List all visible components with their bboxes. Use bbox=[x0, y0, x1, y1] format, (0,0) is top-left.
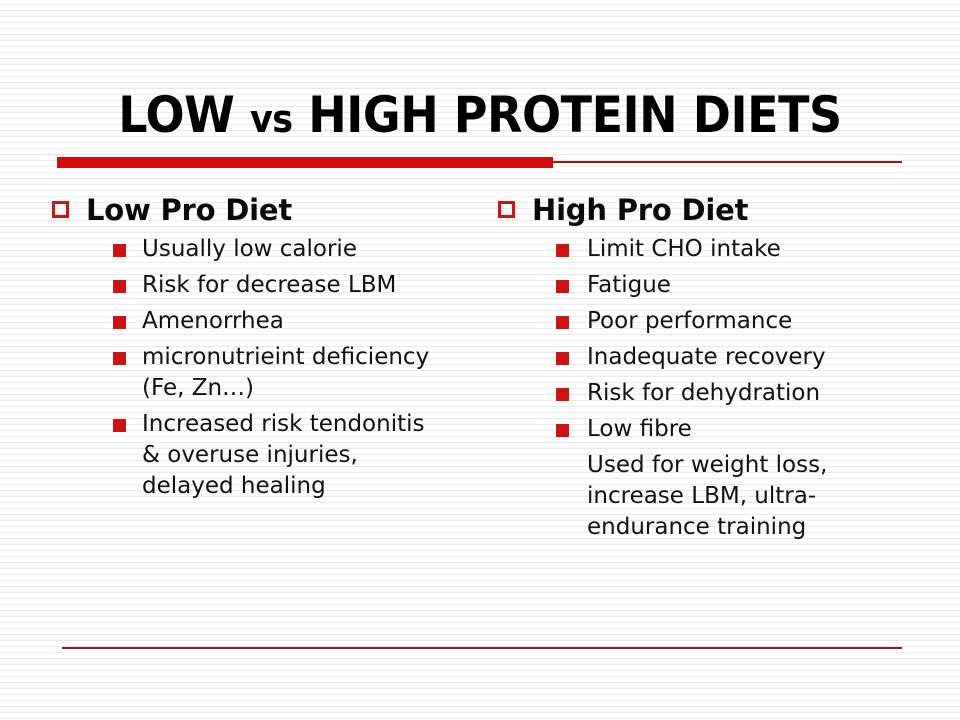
list-item: Fatigue bbox=[556, 270, 928, 301]
list-item: Inadequate recovery bbox=[556, 342, 928, 373]
list-item: Poor performance bbox=[556, 306, 928, 337]
content-column-high-pro-diet: High Pro Diet Limit CHO intake Fatigue P… bbox=[498, 192, 928, 548]
filled-square-bullet-icon bbox=[113, 352, 126, 365]
heading-label: Low Pro Diet bbox=[86, 192, 292, 228]
list-item-label: micronutrieint deficiency (Fe, Zn…) bbox=[142, 342, 442, 404]
heading-low-pro-diet: Low Pro Diet bbox=[52, 192, 472, 228]
filled-square-bullet-icon bbox=[556, 316, 569, 329]
slide-canvas: LOW vs HIGH PROTEIN DIETS Low Pro Diet U… bbox=[0, 0, 960, 720]
filled-square-bullet-icon bbox=[556, 424, 569, 437]
bullet-list-low-pro-diet: Usually low calorie Risk for decrease LB… bbox=[113, 234, 472, 502]
list-item-label: Risk for decrease LBM bbox=[142, 270, 442, 301]
title-part-low: LOW bbox=[118, 86, 250, 144]
list-item-label: Used for weight loss, increase LBM, ultr… bbox=[587, 450, 912, 543]
list-item-label: Increased risk tendonitis & overuse inju… bbox=[142, 409, 442, 502]
list-item: Increased risk tendonitis & overuse inju… bbox=[113, 409, 472, 502]
list-item: Risk for dehydration bbox=[556, 378, 928, 409]
filled-square-bullet-icon bbox=[113, 419, 126, 432]
title-part-vs: vs bbox=[250, 97, 293, 141]
hollow-square-bullet-icon bbox=[498, 201, 515, 218]
blank-bullet-spacer-icon bbox=[556, 460, 569, 473]
filled-square-bullet-icon bbox=[113, 244, 126, 257]
list-item: Usually low calorie bbox=[113, 234, 472, 265]
footer-divider-rule bbox=[62, 647, 902, 649]
title-underline-thick-bar bbox=[57, 157, 553, 168]
list-item-label: Inadequate recovery bbox=[587, 342, 917, 373]
hollow-square-bullet-icon bbox=[52, 201, 69, 218]
heading-high-pro-diet: High Pro Diet bbox=[498, 192, 928, 228]
list-item-no-bullet: Used for weight loss, increase LBM, ultr… bbox=[556, 450, 928, 543]
list-item-label: Low fibre bbox=[587, 414, 917, 445]
content-column-low-pro-diet: Low Pro Diet Usually low calorie Risk fo… bbox=[52, 192, 472, 507]
filled-square-bullet-icon bbox=[556, 388, 569, 401]
list-item-label: Fatigue bbox=[587, 270, 917, 301]
heading-label: High Pro Diet bbox=[532, 192, 748, 228]
list-item: Low fibre bbox=[556, 414, 928, 445]
list-item-label: Risk for dehydration bbox=[587, 378, 917, 409]
filled-square-bullet-icon bbox=[556, 280, 569, 293]
bullet-list-high-pro-diet: Limit CHO intake Fatigue Poor performanc… bbox=[556, 234, 928, 543]
filled-square-bullet-icon bbox=[113, 280, 126, 293]
filled-square-bullet-icon bbox=[556, 352, 569, 365]
list-item: Limit CHO intake bbox=[556, 234, 928, 265]
list-item: Amenorrhea bbox=[113, 306, 472, 337]
filled-square-bullet-icon bbox=[556, 244, 569, 257]
list-item: Risk for decrease LBM bbox=[113, 270, 472, 301]
page-title: LOW vs HIGH PROTEIN DIETS bbox=[38, 86, 921, 148]
list-item-label: Limit CHO intake bbox=[587, 234, 917, 265]
title-part-high: HIGH PROTEIN DIETS bbox=[293, 86, 842, 144]
filled-square-bullet-icon bbox=[113, 316, 126, 329]
list-item-label: Poor performance bbox=[587, 306, 917, 337]
list-item-label: Amenorrhea bbox=[142, 306, 442, 337]
list-item: micronutrieint deficiency (Fe, Zn…) bbox=[113, 342, 472, 404]
list-item-label: Usually low calorie bbox=[142, 234, 442, 265]
